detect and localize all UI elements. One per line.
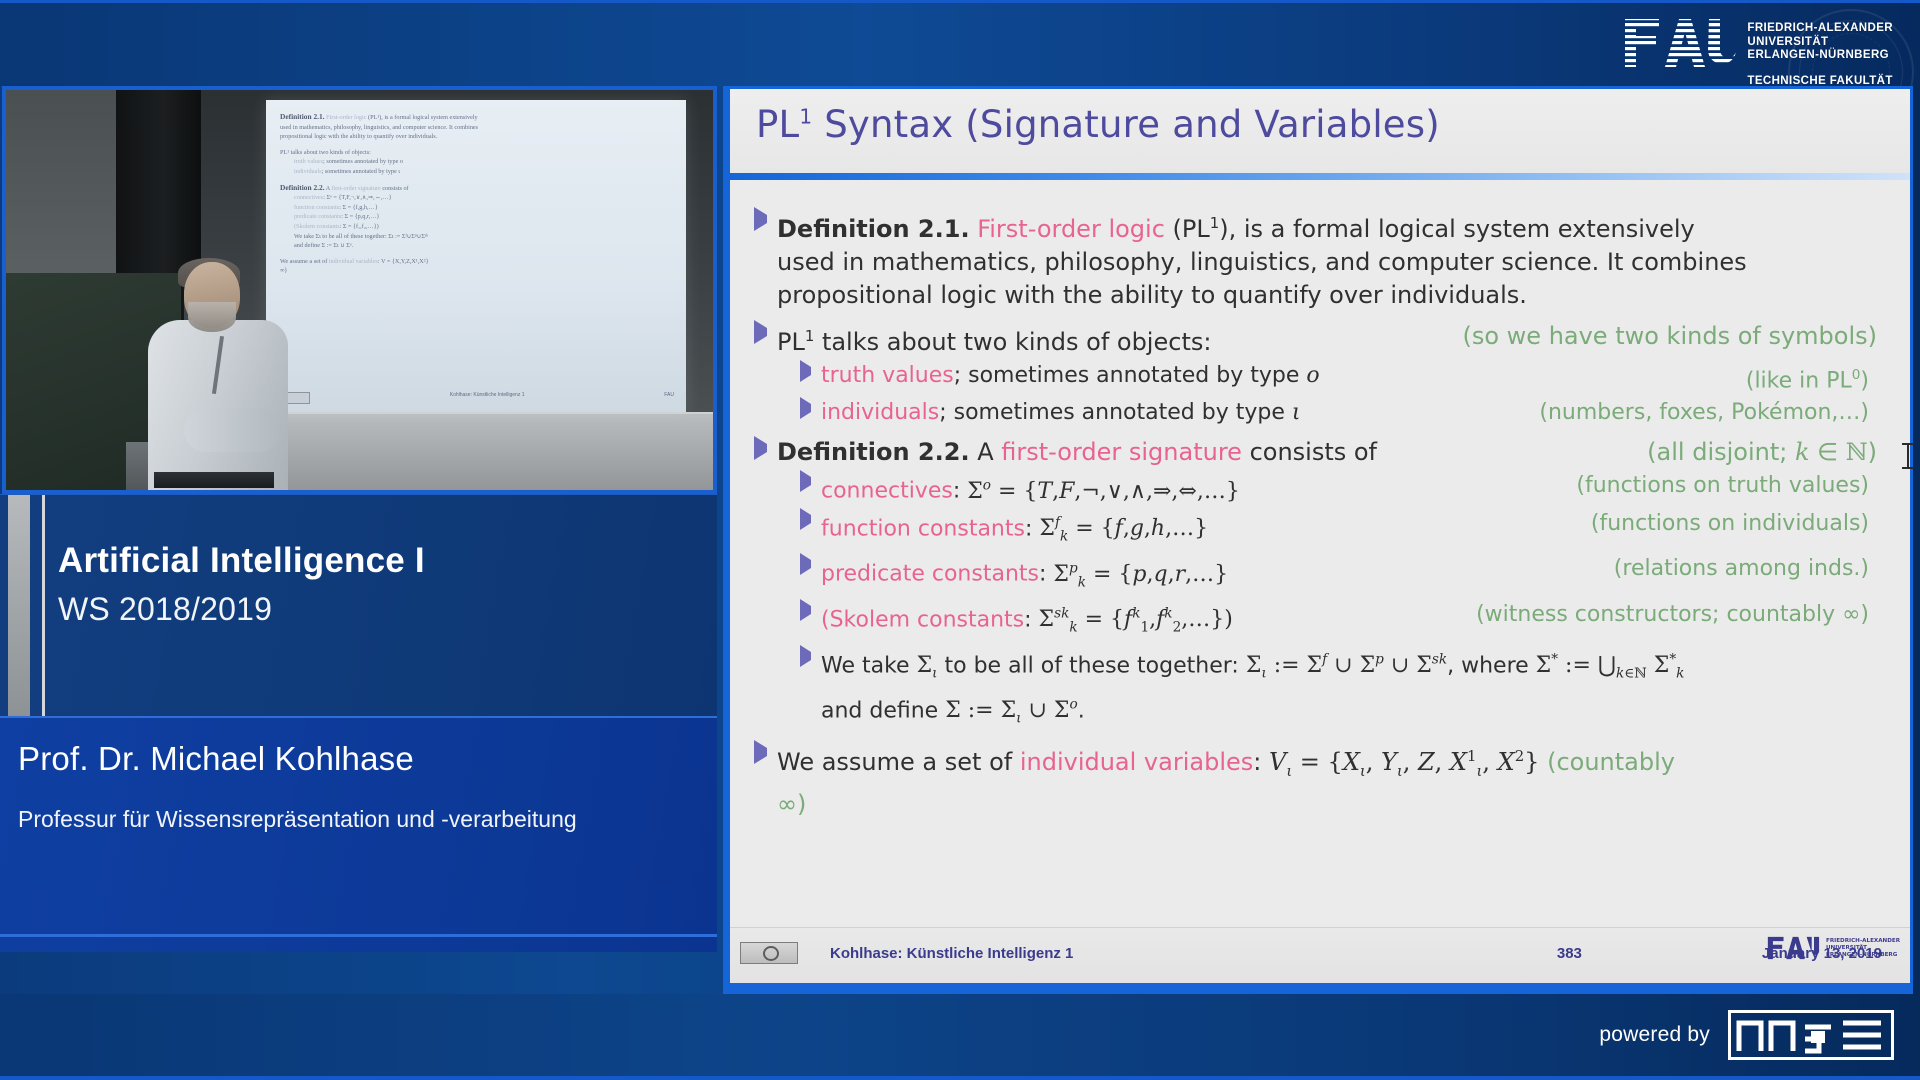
bottom-bar: powered by <box>0 994 1920 1080</box>
predicate-constants-term: predicate constants <box>821 562 1039 587</box>
definition-22-note: (all disjoint; k ∈ ℕ) <box>1631 436 1877 469</box>
fau-logo-icon <box>1766 936 1820 960</box>
projected-slide-text: Definition 2.1. First-order logic (PL¹),… <box>280 112 676 276</box>
truth-values-text: truth values; sometimes annotated by typ… <box>821 360 1730 391</box>
video-inner: Definition 2.1. First-order logic (PL¹),… <box>6 90 713 490</box>
definition-21-label: Definition 2.1. <box>777 215 970 243</box>
bullet-function-constants: function constants: Σfk = {f,g,h,…} (fun… <box>800 508 1894 553</box>
projection-screen: Definition 2.1. First-order logic (PL¹),… <box>266 100 686 412</box>
definition-22-label: Definition 2.2. <box>777 438 970 466</box>
slide-title-main: PL <box>756 103 799 146</box>
definition-21-line3: propositional logic with the ability to … <box>777 281 1527 309</box>
truth-values-term: truth values <box>821 363 954 388</box>
bullet-individuals: individuals; sometimes annotated by type… <box>800 397 1894 428</box>
lecturer-belt <box>154 472 274 488</box>
slide-body: Definition 2.1. First-order logic (PL1),… <box>730 189 1910 927</box>
definition-22-text: Definition 2.2. A first-order signature … <box>777 436 1631 469</box>
bullet-two-kinds: PL1 talks about two kinds of objects: (s… <box>754 320 1894 359</box>
function-constants-term: function constants <box>821 516 1025 541</box>
projected-footer-text: Kohlhase: Künstliche Intelligenz 1 <box>450 392 525 404</box>
footer-author-title: Kohlhase: Künstliche Intelligenz 1 <box>830 945 1073 962</box>
bullet-individual-variables: We assume a set of individual variables:… <box>754 740 1894 821</box>
bullet-triangle-icon <box>800 645 811 667</box>
connectives-note: (functions on truth values) <box>1560 470 1869 501</box>
individuals-note: (numbers, foxes, Pokémon,…) <box>1523 397 1869 428</box>
function-constants-note: (functions on individuals) <box>1575 508 1869 539</box>
predicate-constants-note: (relations among inds.) <box>1598 553 1869 584</box>
slide: PL1 Syntax (Signature and Variables) Def… <box>723 86 1913 994</box>
bullet-truth-values: truth values; sometimes annotated by typ… <box>800 360 1894 396</box>
individual-variables-text: We assume a set of individual variables:… <box>777 740 1877 821</box>
lecture-video[interactable]: Definition 2.1. First-order logic (PL¹),… <box>2 86 717 494</box>
slide-title-rule <box>730 173 1910 180</box>
course-accent-edge <box>42 495 45 717</box>
two-kinds-text: PL1 talks about two kinds of objects: <box>777 320 1446 359</box>
individuals-term: individuals <box>821 400 939 425</box>
skolem-constants-note: (witness constructors; countably ∞) <box>1460 599 1869 630</box>
presenter-name: Prof. Dr. Michael Kohlhase <box>18 740 414 778</box>
vars-pre: We assume a set of <box>777 748 1020 776</box>
bullet-triangle-icon <box>754 207 767 231</box>
bullet-definition-22: Definition 2.2. A first-order signature … <box>754 436 1894 469</box>
bullet-triangle-icon <box>800 599 811 621</box>
function-constants-text: function constants: Σfk = {f,g,h,…} <box>821 508 1575 553</box>
bullet-triangle-icon <box>800 397 811 419</box>
we-take-sigma-line2: and define Σ := Σι ∪ Σo. <box>821 698 1085 723</box>
connectives-term: connectives <box>821 479 953 504</box>
vars-note2: ∞) <box>777 790 806 818</box>
lecturer-figure <box>124 258 299 494</box>
faculty-name: TECHNISCHE FAKULTÄT <box>1747 75 1893 87</box>
definition-22-term: first-order signature <box>1001 438 1242 466</box>
footer-fau-logo: FRIEDRICH-ALEXANDER UNIVERSITÄT ERLANGEN… <box>1766 936 1900 960</box>
definition-21-text: Definition 2.1. First-order logic (PL1),… <box>777 207 1747 312</box>
definition-21-line1: (PL1), is a formal logical system extens… <box>1173 215 1695 243</box>
slide-footer: Kohlhase: Künstliche Intelligenz 1 383 J… <box>730 927 1910 989</box>
definition-21-line2: used in mathematics, philosophy, linguis… <box>777 248 1747 276</box>
slide-header: PL1 Syntax (Signature and Variables) <box>730 89 1910 173</box>
bullet-definition-21: Definition 2.1. First-order logic (PL1),… <box>754 207 1894 312</box>
bullet-triangle-icon <box>754 740 767 764</box>
bullet-triangle-icon <box>754 436 767 460</box>
fau-logo: FRIEDRICH-ALEXANDER UNIVERSITÄT ERLANGEN… <box>1623 17 1893 86</box>
bullet-we-take-sigma: We take Σι to be all of these together: … <box>800 645 1894 734</box>
slide-panel[interactable]: PL1 Syntax (Signature and Variables) Def… <box>717 86 1920 994</box>
slide-title: PL1 Syntax (Signature and Variables) <box>756 103 1440 146</box>
screen-root: FRIEDRICH-ALEXANDER UNIVERSITÄT ERLANGEN… <box>0 0 1920 1080</box>
presenter-underline <box>0 934 717 937</box>
lecturer-arm <box>184 408 280 452</box>
presenter-info-block: Prof. Dr. Michael Kohlhase Professur für… <box>0 716 717 952</box>
bullet-triangle-icon <box>754 320 767 344</box>
powered-by-label: powered by <box>1599 1023 1710 1047</box>
predicate-constants-text: predicate constants: Σpk = {p,q,r,…} <box>821 553 1598 598</box>
bullet-connectives: connectives: Σo = {T,F,¬,∨,∧,⇒,⇔,…} (fun… <box>800 470 1894 506</box>
truth-values-note: (like in PL0) <box>1730 360 1869 396</box>
course-term: WS 2018/2019 <box>58 591 272 628</box>
truth-values-type: o <box>1306 363 1319 388</box>
connectives-text: connectives: Σo = {T,F,¬,∨,∧,⇒,⇔,…} <box>821 470 1560 506</box>
definition-22-a: A <box>977 438 1001 466</box>
bullet-triangle-icon <box>800 470 811 492</box>
bullet-triangle-icon <box>800 508 811 530</box>
projected-footer-logo: FAU <box>664 392 674 404</box>
cc-license-icon <box>740 942 798 964</box>
vars-term: individual variables <box>1020 748 1253 776</box>
skolem-constants-term: (Skolem constants <box>821 607 1024 632</box>
two-kinds-note: (so we have two kinds of symbols) <box>1446 320 1877 353</box>
hall-wall-left <box>6 90 118 276</box>
slide-footer-row: Kohlhase: Künstliche Intelligenz 1 383 J… <box>730 942 1910 964</box>
bullet-skolem-constants: (Skolem constants: Σskk = {fk1,fk2,…}) (… <box>800 599 1894 644</box>
lecture-desk <box>264 412 717 494</box>
course-accent-bar <box>8 495 30 717</box>
course-title: Artificial Intelligence I <box>58 541 425 581</box>
lecturer-beard <box>188 302 236 332</box>
footer-page-number: 383 <box>1557 945 1582 962</box>
individuals-type: ι <box>1292 400 1301 425</box>
text-cursor-icon <box>1902 443 1914 469</box>
bullet-triangle-icon <box>800 553 811 575</box>
individuals-rest: ; sometimes annotated by type <box>939 400 1292 425</box>
left-column: Definition 2.1. First-order logic (PL¹),… <box>0 86 717 994</box>
bullet-predicate-constants: predicate constants: Σpk = {p,q,r,…} (re… <box>800 553 1894 598</box>
slide-footer-bar <box>730 983 1910 989</box>
rrze-logo-icon <box>1728 1010 1894 1060</box>
truth-values-rest: ; sometimes annotated by type <box>954 363 1307 388</box>
skolem-constants-text: (Skolem constants: Σskk = {fk1,fk2,…}) <box>821 599 1460 644</box>
definition-22-rest: consists of <box>1242 438 1377 466</box>
top-banner: FRIEDRICH-ALEXANDER UNIVERSITÄT ERLANGEN… <box>0 0 1920 86</box>
vars-note: (countably <box>1547 748 1675 776</box>
presenter-role: Professur für Wissensrepräsentation und … <box>18 802 678 836</box>
we-take-sigma-text: We take Σι to be all of these together: … <box>821 645 1869 734</box>
fau-logo-icon <box>1623 17 1736 69</box>
projected-slide-footer: Kohlhase: Künstliche Intelligenz 1 FAU <box>280 392 674 404</box>
slide-title-rest: Syntax (Signature and Variables) <box>812 103 1440 146</box>
definition-21-term: First-order logic <box>977 215 1165 243</box>
slide-title-sup: 1 <box>799 105 812 129</box>
we-take-sigma-line1: We take Σι to be all of these together: … <box>821 653 1684 678</box>
course-info-block: Artificial Intelligence I WS 2018/2019 <box>0 494 717 716</box>
footer-university-name: FRIEDRICH-ALEXANDER UNIVERSITÄT ERLANGEN… <box>1826 938 1900 959</box>
two-kinds-rest: talks about two kinds of objects: <box>814 328 1211 356</box>
individuals-text: individuals; sometimes annotated by type… <box>821 397 1523 428</box>
bullet-triangle-icon <box>800 360 811 382</box>
university-name: FRIEDRICH-ALEXANDER UNIVERSITÄT ERLANGEN… <box>1747 17 1893 63</box>
